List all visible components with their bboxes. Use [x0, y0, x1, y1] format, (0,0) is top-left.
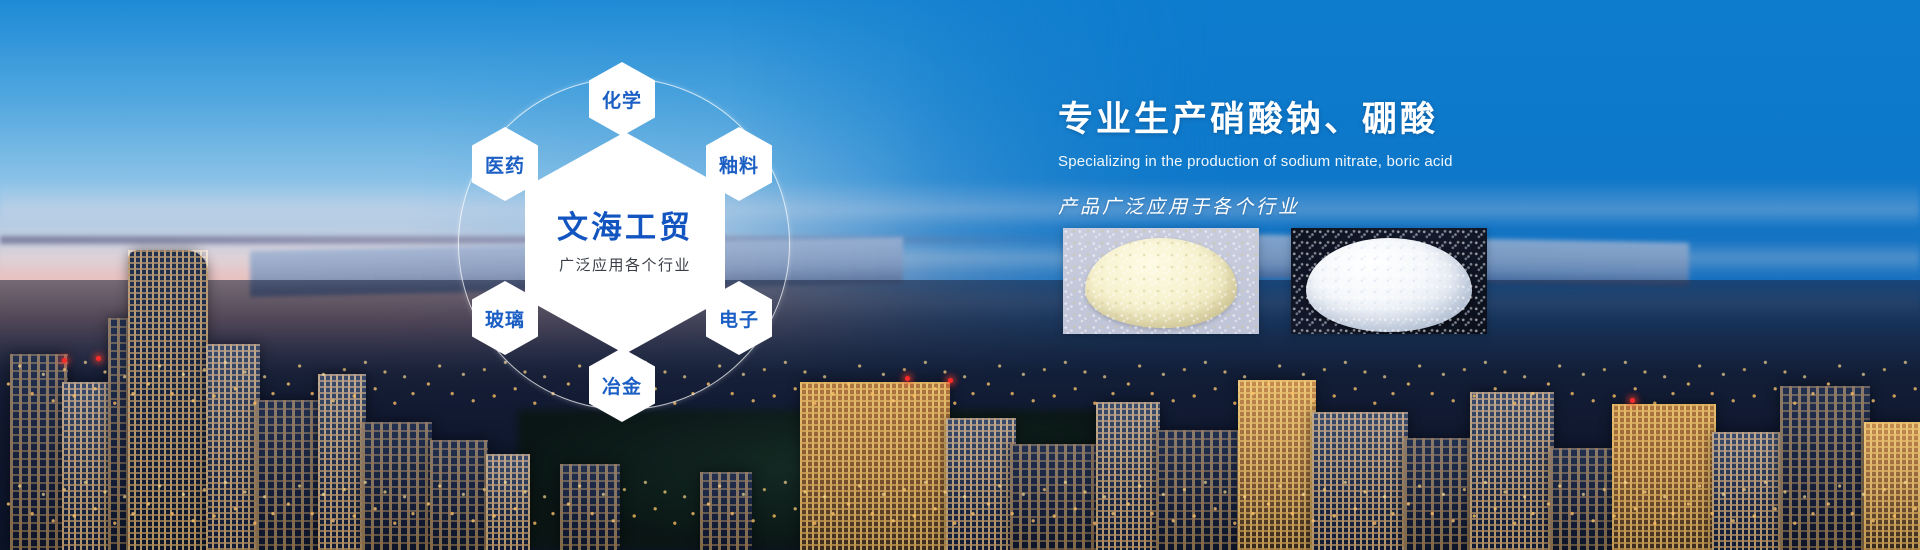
antenna-light	[948, 378, 953, 383]
building	[1156, 430, 1242, 550]
copy-block: 专业生产硝酸钠、硼酸 Specializing in the productio…	[1058, 98, 1698, 219]
antenna-light	[96, 356, 101, 361]
building	[486, 454, 530, 550]
hex-node-label: 釉料	[719, 151, 759, 178]
hex-node-label: 电子	[719, 305, 759, 332]
building-warm	[800, 382, 950, 550]
hex-node-label: 化学	[602, 86, 642, 113]
building-warm	[1864, 422, 1920, 550]
building	[318, 374, 366, 550]
building	[1312, 412, 1408, 550]
building	[1010, 444, 1100, 550]
brand-name: 文海工贸	[557, 211, 693, 245]
hex-node-label: 医药	[485, 151, 525, 178]
headline: 专业生产硝酸钠、硼酸	[1058, 98, 1698, 142]
powder-grain-texture	[1063, 228, 1259, 334]
building	[1780, 386, 1870, 550]
brand-tagline: 广泛应用各个行业	[559, 254, 691, 275]
tagline: 产品广泛应用于各个行业	[1058, 192, 1698, 219]
building	[1096, 402, 1160, 550]
industry-hex-diagram: 化学 釉料 电子 冶金 玻璃 医药 文海工贸 广泛应用各个行业	[430, 40, 820, 460]
antenna-light	[905, 376, 910, 381]
building	[362, 422, 432, 550]
hex-node-label: 冶金	[602, 372, 642, 399]
building	[1470, 392, 1554, 550]
product-photo-sodium-nitrate[interactable]	[1063, 228, 1259, 334]
building-warm	[1612, 404, 1716, 550]
hex-node-label: 玻璃	[485, 305, 525, 332]
building	[10, 354, 68, 550]
building	[560, 464, 620, 550]
building-warm	[1238, 380, 1316, 550]
powder-grain-texture	[1291, 228, 1487, 334]
antenna-light	[62, 358, 67, 363]
building	[1404, 438, 1474, 550]
building-tower-main	[128, 250, 208, 550]
building	[256, 400, 322, 550]
product-photo-strip	[1063, 228, 1487, 334]
building	[62, 382, 108, 550]
antenna-light	[1630, 398, 1635, 403]
city-skyline	[0, 230, 1920, 550]
building	[1712, 432, 1784, 550]
building	[946, 418, 1016, 550]
building	[206, 344, 260, 550]
building	[700, 472, 752, 550]
product-photo-boric-acid[interactable]	[1291, 228, 1487, 334]
building	[1550, 448, 1616, 550]
hero-banner: 化学 釉料 电子 冶金 玻璃 医药 文海工贸 广泛应用各个行业 专业生产硝酸钠、…	[0, 0, 1920, 550]
subheadline-english: Specializing in the production of sodium…	[1058, 153, 1698, 170]
